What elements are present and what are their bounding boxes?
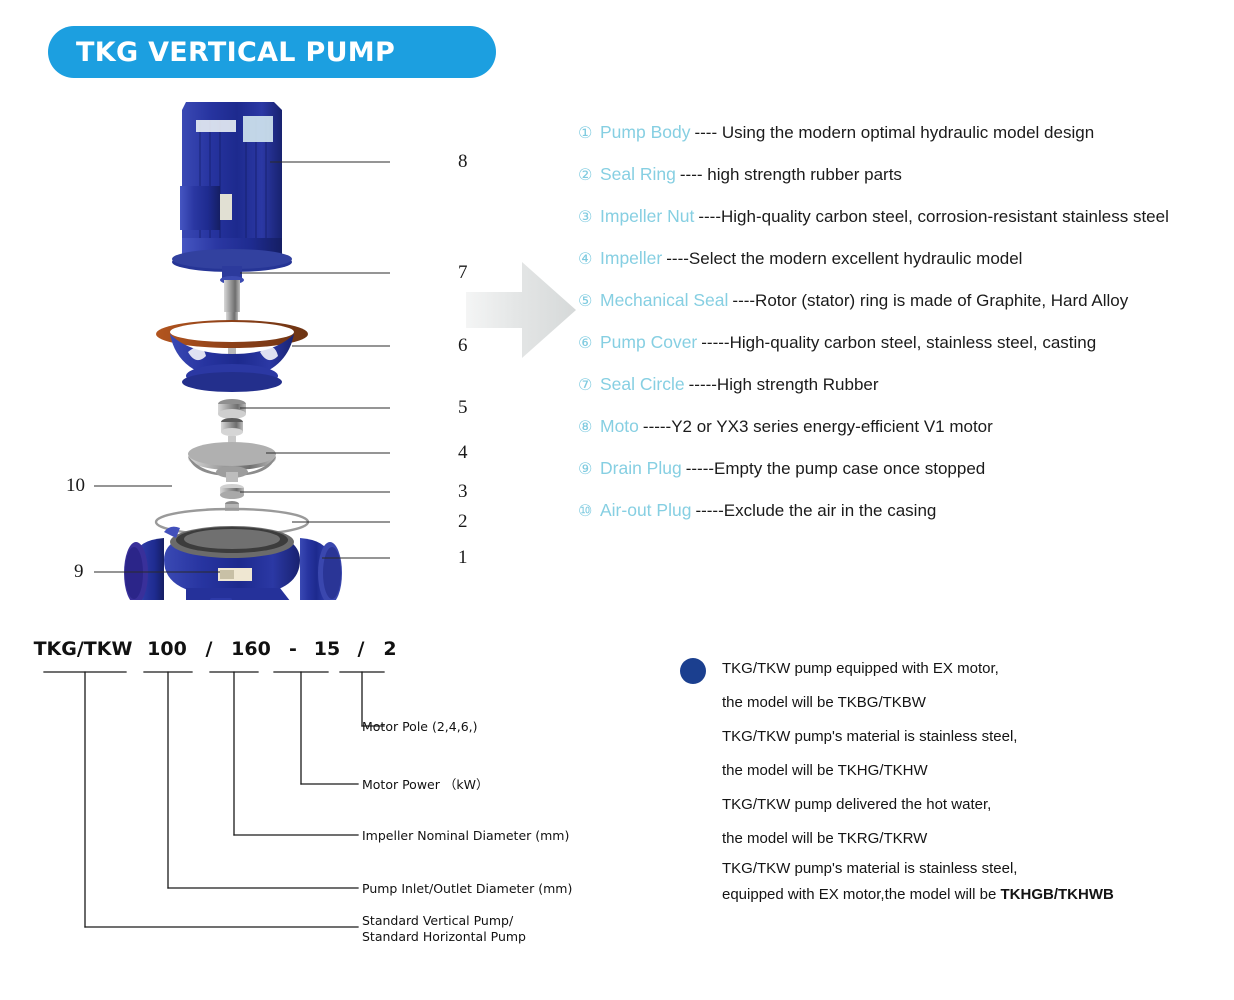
nomenclature-label-motor-pole: Motor Pole (2,4,6,) (362, 719, 478, 736)
legend-marker-icon-1: ① (578, 123, 600, 142)
nomenclature-label-pump-type-line2: Standard Horizontal Pump (362, 929, 526, 946)
legend-part-desc-5: ----Rotor (stator) ring is made of Graph… (732, 291, 1128, 311)
callout-number-10: 10 (66, 476, 85, 495)
variant-note-line-7: TKG/TKW pump's material is stainless ste… (722, 856, 1220, 882)
legend-part-desc-4: ----Select the modern excellent hydrauli… (666, 249, 1022, 269)
legend-marker-icon-9: ⑨ (578, 459, 600, 478)
variant-note-line-4: the model will be TKHG/TKHW (722, 754, 1220, 788)
figure-part-motor (172, 102, 292, 272)
model-nomenclature-diagram: TKG/TKW 100 / 160 - 15 / 2 (28, 630, 618, 960)
legend-marker-icon-10: ⑩ (578, 501, 600, 520)
legend-item-moto: ⑧ Moto -----Y2 or YX3 series energy-effi… (578, 416, 1228, 458)
legend-item-mechanical-seal: ⑤ Mechanical Seal ----Rotor (stator) rin… (578, 290, 1228, 332)
legend-part-desc-6: -----High-quality carbon steel, stainles… (701, 333, 1096, 353)
legend-part-name-10: Air-out Plug (600, 500, 691, 521)
legend-item-impeller-nut: ③ Impeller Nut ----High-quality carbon s… (578, 206, 1228, 248)
legend-part-name-2: Seal Ring (600, 164, 676, 185)
legend-part-desc-9: -----Empty the pump case once stopped (686, 459, 986, 479)
legend-part-name-7: Seal Circle (600, 374, 685, 395)
legend-marker-icon-3: ③ (578, 207, 600, 226)
legend-marker-icon-6: ⑥ (578, 333, 600, 352)
figure-part-impeller-nut (220, 484, 244, 511)
variant-note-line-3: TKG/TKW pump's material is stainless ste… (722, 720, 1220, 754)
legend-marker-icon-7: ⑦ (578, 375, 600, 394)
callout-number-5: 5 (458, 398, 468, 417)
page-title: TKG VERTICAL PUMP (76, 37, 395, 68)
variant-note-line-8-text: equipped with EX motor,the model will be (722, 886, 1001, 903)
legend-part-desc-8: -----Y2 or YX3 series energy-efficient V… (643, 417, 993, 437)
nomenclature-label-motor-power: Motor Power （kW） (362, 777, 488, 794)
figure-part-impeller (188, 442, 276, 482)
legend-marker-icon-5: ⑤ (578, 291, 600, 310)
page-title-banner: TKG VERTICAL PUMP (48, 26, 496, 78)
variant-note-line-8-model: TKHGB/TKHWB (1001, 886, 1114, 903)
nomenclature-leader-lines (28, 630, 618, 960)
legend-part-name-3: Impeller Nut (600, 206, 694, 227)
legend-item-drain-plug: ⑨ Drain Plug -----Empty the pump case on… (578, 458, 1228, 500)
legend-marker-icon-4: ④ (578, 249, 600, 268)
legend-item-pump-cover: ⑥ Pump Cover -----High-quality carbon st… (578, 332, 1228, 374)
figure-part-pump-body (124, 526, 342, 600)
variant-note-line-8: equipped with EX motor,the model will be… (722, 882, 1220, 908)
callout-number-8: 8 (458, 152, 468, 171)
legend-item-pump-body: ① Pump Body ---- Using the modern optima… (578, 122, 1228, 164)
callout-number-2: 2 (458, 512, 468, 531)
nomenclature-label-inlet-outlet-diameter: Pump Inlet/Outlet Diameter (mm) (362, 881, 572, 898)
legend-item-air-out-plug: ⑩ Air-out Plug -----Exclude the air in t… (578, 500, 1228, 542)
nomenclature-label-pump-type-line1: Standard Vertical Pump/ (362, 913, 513, 930)
model-variant-notes: TKG/TKW pump equipped with EX motor, the… (680, 652, 1220, 908)
parts-legend-list: ① Pump Body ---- Using the modern optima… (578, 122, 1228, 542)
variant-note-line-2: the model will be TKBG/TKBW (722, 686, 1220, 720)
legend-item-seal-ring: ② Seal Ring ---- high strength rubber pa… (578, 164, 1228, 206)
legend-part-desc-1: ---- Using the modern optimal hydraulic … (694, 123, 1094, 143)
legend-part-desc-3: ----High-quality carbon steel, corrosion… (698, 207, 1169, 227)
flow-arrow (466, 258, 578, 362)
figure-part-pump-cover (156, 320, 308, 392)
callout-number-9: 9 (74, 562, 84, 581)
legend-part-name-9: Drain Plug (600, 458, 682, 479)
variant-note-line-1: TKG/TKW pump equipped with EX motor, (722, 652, 1220, 686)
legend-item-seal-circle: ⑦ Seal Circle -----High strength Rubber (578, 374, 1228, 416)
legend-marker-icon-8: ⑧ (578, 417, 600, 436)
callout-number-1: 1 (458, 548, 468, 567)
legend-part-name-8: Moto (600, 416, 639, 437)
bullet-point-icon (680, 658, 706, 684)
callout-number-4: 4 (458, 443, 468, 462)
legend-part-name-6: Pump Cover (600, 332, 697, 353)
legend-part-desc-7: -----High strength Rubber (689, 375, 879, 395)
callout-number-3: 3 (458, 482, 468, 501)
variant-note-line-5: TKG/TKW pump delivered the hot water, (722, 788, 1220, 822)
variant-note-line-6: the model will be TKRG/TKRW (722, 822, 1220, 856)
legend-part-name-4: Impeller (600, 248, 662, 269)
legend-item-impeller: ④ Impeller ----Select the modern excelle… (578, 248, 1228, 290)
legend-part-name-5: Mechanical Seal (600, 290, 728, 311)
legend-marker-icon-2: ② (578, 165, 600, 184)
figure-part-drain-plug (210, 598, 232, 600)
legend-part-name-1: Pump Body (600, 122, 690, 143)
legend-part-desc-10: -----Exclude the air in the casing (695, 501, 936, 521)
nomenclature-label-impeller-diameter: Impeller Nominal Diameter (mm) (362, 828, 569, 845)
legend-part-desc-2: ---- high strength rubber parts (680, 165, 902, 185)
exploded-pump-diagram: 8 7 6 5 4 3 2 1 10 9 (60, 90, 480, 600)
